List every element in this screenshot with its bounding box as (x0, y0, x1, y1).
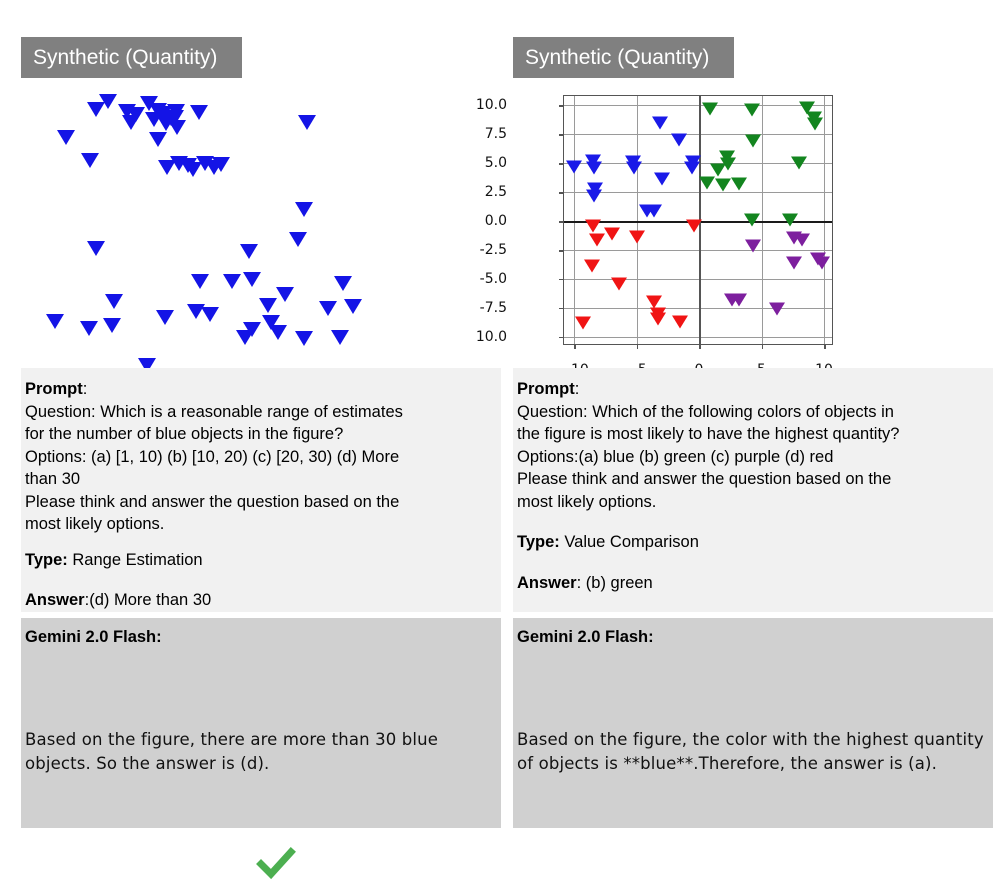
scatter-marker-blue (671, 133, 687, 146)
gridline-horizontal (564, 337, 832, 338)
y-axis-tick-mark (559, 192, 564, 194)
scatter-marker-purple (769, 302, 785, 315)
y-axis-tick-label: -7.5 (447, 300, 507, 316)
prompt-block-right: Prompt: Question: Which of the following… (513, 368, 993, 612)
scatter-marker-blue (81, 153, 99, 168)
gridline-vertical (824, 96, 825, 344)
scatter-marker-red (584, 260, 600, 273)
prompt-heading-right: Prompt: (517, 378, 989, 401)
scatter-marker-green (710, 164, 726, 177)
scatter-marker-blue (212, 157, 230, 172)
panel-right: Synthetic (Quantity) 10.07.55.02.50.0-2.… (513, 0, 993, 889)
scatter-marker-red (629, 231, 645, 244)
prompt-label-left: Prompt (25, 380, 83, 398)
scatter-marker-blue (243, 272, 261, 287)
scatter-marker-blue (626, 161, 642, 174)
scatter-marker-blue (586, 189, 602, 202)
gridline-horizontal (564, 279, 832, 280)
panel-right-title-bar: Synthetic (Quantity) (513, 37, 734, 78)
scatter-marker-red (604, 227, 620, 240)
y-axis-tick-mark (559, 134, 564, 136)
scatter-marker-blue (276, 287, 294, 302)
scatter-marker-green (744, 103, 760, 116)
y-axis-tick-mark (559, 337, 564, 339)
answer-label-right: Answer (517, 574, 577, 592)
figure-quadrant-scatter: 10.07.55.02.50.0-2.5-5.0-7.510.0−10−5051… (513, 84, 993, 362)
panel-left-title-bar: Synthetic (Quantity) (21, 37, 242, 78)
y-axis-tick-label: 2.5 (447, 184, 507, 200)
answer-row-left: Answer:(d) More than 30 (25, 589, 497, 612)
prompt-line: most likely options. (517, 491, 989, 514)
scatter-marker-blue (566, 160, 582, 173)
x-axis-tick-mark (824, 344, 826, 349)
scatter-marker-blue (80, 321, 98, 336)
scatter-marker-green (807, 117, 823, 130)
scatter-marker-blue (295, 202, 313, 217)
scatter-marker-green (791, 157, 807, 170)
model-response-block-right: Gemini 2.0 Flash: Based on the figure, t… (513, 618, 993, 828)
gridline-vertical (637, 96, 638, 344)
scatter-marker-blue (331, 330, 349, 345)
scatter-marker-purple (745, 240, 761, 253)
y-axis-tick-mark (559, 250, 564, 252)
answer-label-left: Answer (25, 591, 85, 609)
panel-left-title: Synthetic (Quantity) (33, 47, 217, 68)
scatter-marker-red (585, 219, 601, 232)
y-axis-tick-label: 5.0 (447, 155, 507, 171)
gridline-vertical (762, 96, 763, 344)
scatter-marker-blue (334, 276, 352, 291)
type-row-left: Type: Range Estimation (25, 549, 497, 572)
prompt-line: Question: Which is a reasonable range of… (25, 401, 497, 424)
scatter-marker-blue (191, 274, 209, 289)
gridline-horizontal (564, 250, 832, 251)
answer-value-right: : (b) green (577, 574, 653, 592)
scatter-marker-blue (190, 105, 208, 120)
scatter-marker-blue (259, 298, 277, 313)
panel-right-title: Synthetic (Quantity) (525, 47, 709, 68)
prompt-line: Question: Which of the following colors … (517, 401, 989, 424)
type-value-left: Range Estimation (72, 551, 202, 569)
scatter-marker-green (699, 176, 715, 189)
model-response-block-left: Gemini 2.0 Flash: Based on the figure, t… (21, 618, 501, 828)
scatter-marker-blue (652, 116, 668, 129)
x-axis-tick-mark (762, 344, 764, 349)
type-label-right: Type: (517, 533, 560, 551)
scatter-marker-green (744, 213, 760, 226)
scatter-marker-purple (814, 256, 830, 269)
scatter-marker-blue (87, 241, 105, 256)
scatter-marker-green (731, 177, 747, 190)
scatter-marker-green (715, 179, 731, 192)
scatter-marker-blue (201, 307, 219, 322)
scatter-marker-red (611, 277, 627, 290)
verdict-check-icon (256, 846, 296, 880)
scatter-marker-red (589, 233, 605, 246)
scatter-marker-purple (731, 293, 747, 306)
type-label-left: Type: (25, 551, 68, 569)
scatter-marker-blue (586, 161, 602, 174)
scatter-marker-blue (295, 331, 313, 346)
scatter-marker-green (745, 135, 761, 148)
scatter-marker-blue (223, 274, 241, 289)
prompt-line: Options:(a) blue (b) green (c) purple (d… (517, 446, 989, 469)
type-row-right: Type: Value Comparison (517, 531, 989, 554)
scatter-marker-red (672, 315, 688, 328)
prompt-heading-left: Prompt: (25, 378, 497, 401)
scatter-marker-red (575, 316, 591, 329)
prompt-line: Please think and answer the question bas… (25, 491, 497, 514)
y-axis-tick-label: -5.0 (447, 271, 507, 287)
x-axis-tick-mark (699, 344, 701, 349)
scatter-plot-plain (21, 84, 501, 362)
answer-value-left: :(d) More than 30 (85, 591, 212, 609)
y-axis-tick-label: -2.5 (447, 242, 507, 258)
scatter-marker-red (686, 219, 702, 232)
scatter-marker-purple (786, 256, 802, 269)
prompt-line: for the number of blue objects in the fi… (25, 423, 497, 446)
gridline-horizontal (564, 308, 832, 309)
scatter-marker-blue (262, 315, 280, 330)
gridline-horizontal (564, 192, 832, 193)
prompt-line: than 30 (25, 468, 497, 491)
scatter-marker-blue (289, 232, 307, 247)
y-axis-tick-mark (559, 105, 564, 107)
y-axis-tick-label: 10.0 (447, 97, 507, 113)
scatter-marker-blue (57, 130, 75, 145)
prompt-colon-left: : (83, 380, 88, 398)
x-axis-tick-mark (574, 344, 576, 349)
x-axis-tick-mark (637, 344, 639, 349)
panel-left: Synthetic (Quantity) Prompt: Question: W… (21, 0, 501, 889)
y-axis-tick-label: 7.5 (447, 126, 507, 142)
scatter-marker-blue (344, 299, 362, 314)
model-response-right: Based on the figure, the color with the … (517, 728, 989, 776)
type-value-right: Value Comparison (564, 533, 699, 551)
gridline-horizontal (564, 134, 832, 135)
scatter-marker-blue (105, 294, 123, 309)
model-label-left: Gemini 2.0 Flash: (25, 628, 497, 647)
scatter-plot-axes: 10.07.55.02.50.0-2.5-5.0-7.510.0−10−5051… (563, 95, 833, 345)
scatter-marker-blue (684, 161, 700, 174)
scatter-marker-blue (243, 322, 261, 337)
scatter-marker-blue (654, 173, 670, 186)
prompt-block-left: Prompt: Question: Which is a reasonable … (21, 368, 501, 612)
scatter-marker-blue (149, 132, 167, 147)
scatter-marker-green (702, 102, 718, 115)
prompt-line: Please think and answer the question bas… (517, 468, 989, 491)
scatter-marker-blue (298, 115, 316, 130)
prompt-line: the figure is most likely to have the hi… (517, 423, 989, 446)
y-axis-tick-mark (559, 163, 564, 165)
scatter-marker-blue (167, 104, 185, 119)
scatter-marker-blue (646, 204, 662, 217)
scatter-marker-green (782, 213, 798, 226)
scatter-marker-red (650, 313, 666, 326)
scatter-marker-blue (156, 310, 174, 325)
scatter-marker-blue (46, 314, 64, 329)
prompt-label-right: Prompt (517, 380, 575, 398)
scatter-marker-blue (168, 120, 186, 135)
prompt-line: Options: (a) [1, 10) (b) [10, 20) (c) [2… (25, 446, 497, 469)
y-axis-tick-label: 0.0 (447, 213, 507, 229)
answer-row-right: Answer: (b) green (517, 572, 989, 595)
scatter-marker-blue (319, 301, 337, 316)
model-response-left: Based on the figure, there are more than… (25, 728, 497, 776)
scatter-marker-purple (794, 233, 810, 246)
prompt-colon-right: : (575, 380, 580, 398)
figure-blue-triangle-scatter (21, 84, 501, 362)
scatter-marker-blue (240, 244, 258, 259)
y-axis-tick-mark (559, 279, 564, 281)
scatter-marker-blue (103, 318, 121, 333)
y-axis-tick-label: 10.0 (447, 329, 507, 345)
model-label-right: Gemini 2.0 Flash: (517, 628, 989, 647)
scatter-marker-blue (99, 94, 117, 109)
gridline-horizontal (564, 105, 832, 106)
y-axis-tick-mark (559, 308, 564, 310)
prompt-line: most likely options. (25, 513, 497, 536)
gridline-vertical (574, 96, 575, 344)
